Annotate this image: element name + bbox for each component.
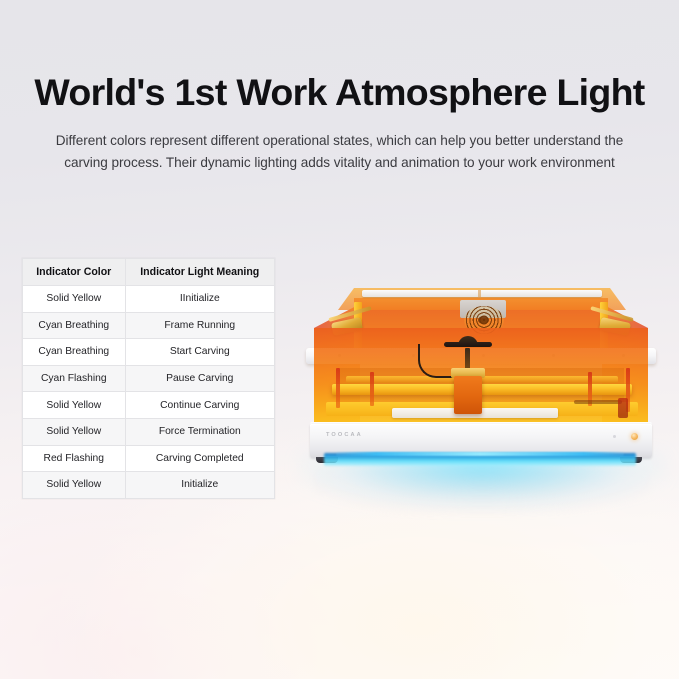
page-title: World's 1st Work Atmosphere Light [0, 72, 679, 113]
lid-rail-seam [478, 290, 481, 297]
cell-indicator-color: Red Flashing [23, 445, 126, 472]
lid-rail [362, 290, 602, 297]
cell-indicator-meaning: Carving Completed [125, 445, 274, 472]
cell-indicator-color: Cyan Flashing [23, 365, 126, 392]
cell-indicator-meaning: Force Termination [125, 418, 274, 445]
power-indicator-led [631, 433, 638, 440]
promo-page: World's 1st Work Atmosphere Light Differ… [0, 0, 679, 679]
table-row: Solid Yellow Continue Carving [23, 392, 275, 419]
cell-indicator-color: Cyan Breathing [23, 339, 126, 366]
cell-indicator-color: Solid Yellow [23, 418, 126, 445]
cell-indicator-meaning: Initialize [125, 472, 274, 499]
table-row: Cyan Breathing Start Carving [23, 339, 275, 366]
indicator-legend-table: Indicator Color Indicator Light Meaning … [22, 258, 275, 499]
table-row: Solid Yellow Initialize [23, 472, 275, 499]
table-row: Cyan Flashing Pause Carving [23, 365, 275, 392]
cell-indicator-meaning: Pause Carving [125, 365, 274, 392]
column-header-indicator-color: Indicator Color [23, 259, 126, 286]
cell-indicator-meaning: Frame Running [125, 312, 274, 339]
side-bracket [618, 398, 628, 418]
internal-strut [336, 368, 340, 408]
table-row: Cyan Breathing Frame Running [23, 312, 275, 339]
laser-head-module [454, 376, 482, 414]
gantry-rail-front [332, 384, 632, 395]
laser-head-stem [465, 348, 470, 370]
cell-indicator-meaning: Start Carving [125, 339, 274, 366]
cell-indicator-color: Solid Yellow [23, 392, 126, 419]
cell-indicator-color: Cyan Breathing [23, 312, 126, 339]
product-photo-laser-engraver: TOOCAA [288, 272, 674, 520]
cell-indicator-color: Solid Yellow [23, 286, 126, 313]
laser-head-top-bar [444, 342, 492, 347]
cell-indicator-meaning: IInitialize [125, 286, 274, 313]
exhaust-fan-hub [478, 316, 489, 324]
status-dot [613, 435, 616, 438]
cell-indicator-meaning: Continue Carving [125, 392, 274, 419]
table-row: Red Flashing Carving Completed [23, 445, 275, 472]
brand-logo: TOOCAA [326, 432, 363, 438]
cell-indicator-color: Solid Yellow [23, 472, 126, 499]
column-header-indicator-meaning: Indicator Light Meaning [125, 259, 274, 286]
page-subtitle: Different colors represent different ope… [33, 130, 647, 174]
table-row: Solid Yellow Force Termination [23, 418, 275, 445]
atmosphere-light-core [336, 452, 624, 456]
table-row: Solid Yellow IInitialize [23, 286, 275, 313]
internal-strut [370, 372, 374, 406]
side-support-arm [574, 400, 622, 404]
table-header-row: Indicator Color Indicator Light Meaning [23, 259, 275, 286]
